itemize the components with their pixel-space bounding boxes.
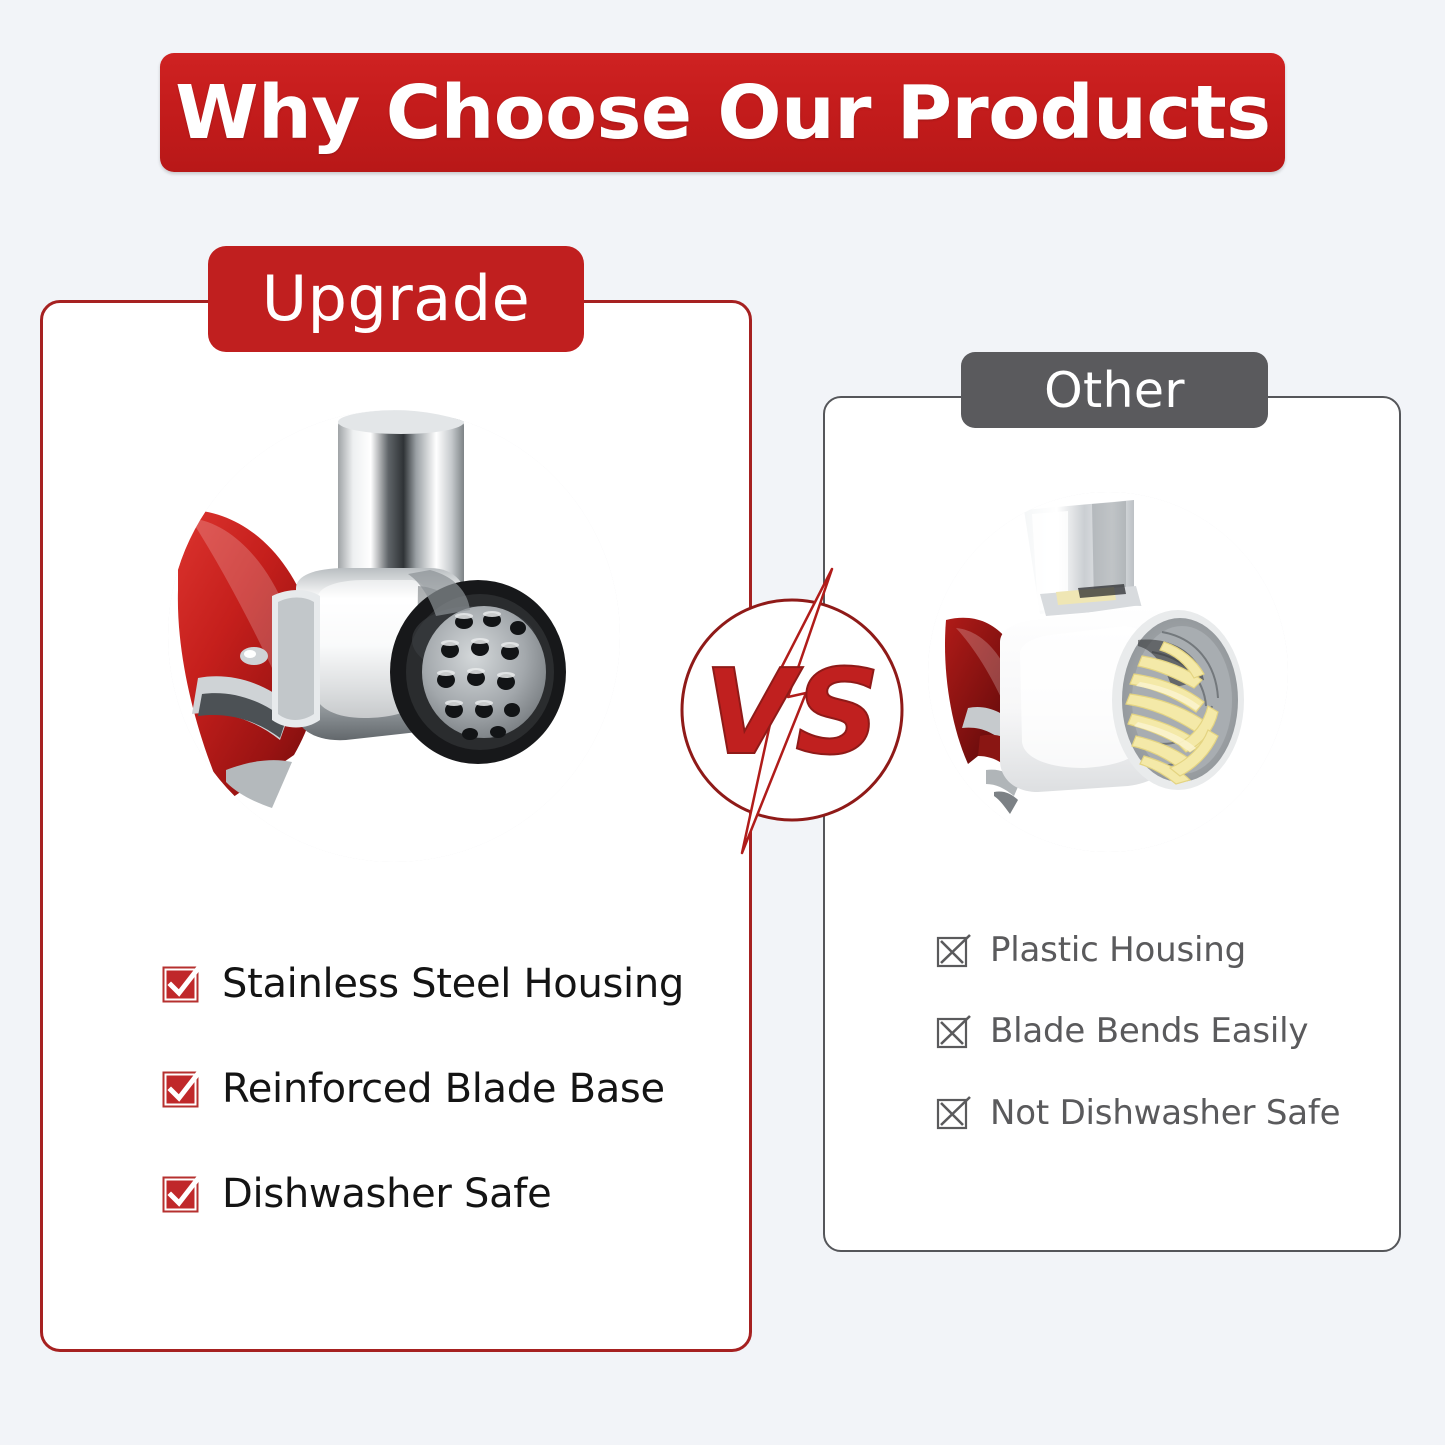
upgrade-feature-list: Stainless Steel Housing Reinforced Blade… bbox=[162, 962, 682, 1216]
list-item-label: Reinforced Blade Base bbox=[222, 1067, 665, 1111]
list-item-label: Stainless Steel Housing bbox=[222, 962, 684, 1006]
list-item: Blade Bends Easily bbox=[936, 1013, 1356, 1050]
check-box-icon bbox=[162, 1174, 202, 1214]
vs-divider-badge: VS bbox=[676, 565, 908, 855]
header-banner: Why Choose Our Products bbox=[160, 53, 1285, 172]
cross-box-icon bbox=[936, 1014, 972, 1050]
page-title: Why Choose Our Products bbox=[175, 76, 1270, 150]
check-box-icon bbox=[162, 964, 202, 1004]
cross-box-icon bbox=[936, 933, 972, 969]
other-badge: Other bbox=[961, 352, 1268, 428]
other-product-photo bbox=[928, 492, 1288, 852]
list-item-label: Not Dishwasher Safe bbox=[990, 1095, 1340, 1132]
comparison-infographic: Why Choose Our Products Upgrade Other bbox=[0, 0, 1445, 1445]
list-item: Stainless Steel Housing bbox=[162, 962, 682, 1006]
list-item-label: Dishwasher Safe bbox=[222, 1172, 551, 1216]
check-box-icon bbox=[162, 1069, 202, 1109]
list-item: Not Dishwasher Safe bbox=[936, 1095, 1356, 1132]
upgrade-badge: Upgrade bbox=[208, 246, 584, 352]
cross-box-icon bbox=[936, 1095, 972, 1131]
other-feature-list: Plastic Housing Blade Bends Easily Not D… bbox=[936, 932, 1356, 1132]
list-item: Dishwasher Safe bbox=[162, 1172, 682, 1216]
upgrade-product-photo bbox=[168, 410, 620, 862]
list-item-label: Blade Bends Easily bbox=[990, 1013, 1308, 1050]
vs-label: VS bbox=[704, 643, 880, 781]
list-item-label: Plastic Housing bbox=[990, 932, 1246, 969]
list-item: Plastic Housing bbox=[936, 932, 1356, 969]
list-item: Reinforced Blade Base bbox=[162, 1067, 682, 1111]
